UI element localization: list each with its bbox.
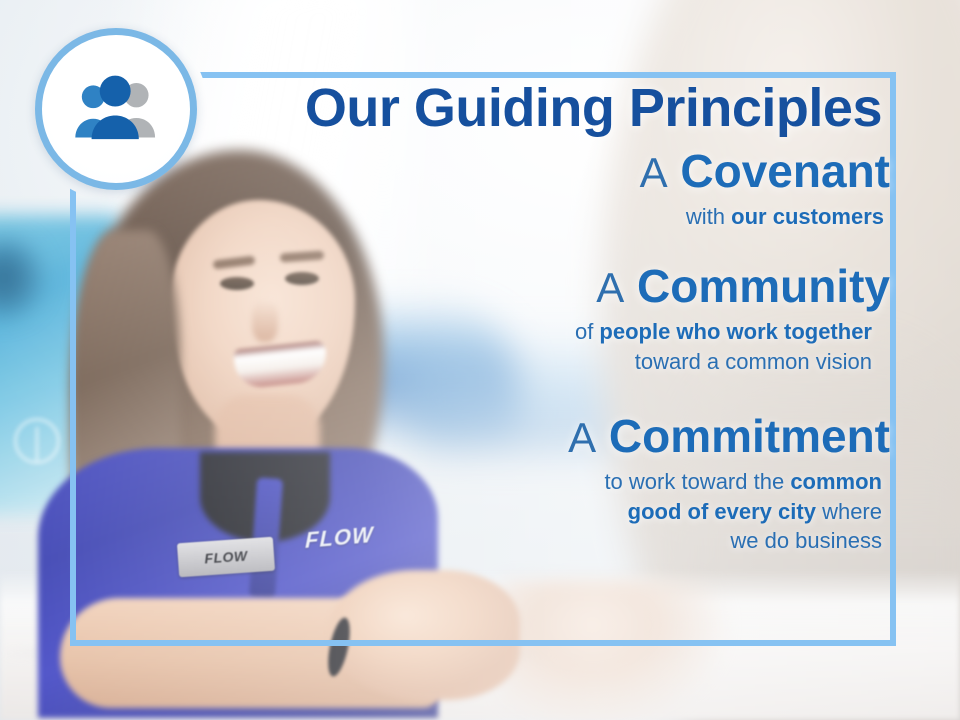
subtitle-part-bold: common (790, 469, 882, 494)
subtitle-part: with (686, 204, 731, 229)
principle-article: A (568, 414, 596, 461)
principle-subtitle: with our customers (200, 202, 890, 231)
principle-commitment: A Commitment to work toward the common g… (200, 412, 890, 555)
subtitle-part: of (575, 319, 599, 344)
customer-hands (500, 580, 730, 720)
page-title: Our Guiding Principles (200, 80, 890, 137)
principle-article: A (640, 149, 668, 196)
vehicle-brand-logo-icon (14, 418, 60, 464)
principles-copy: Our Guiding Principles A Covenant with o… (200, 80, 890, 555)
principle-heading: A Commitment (200, 412, 890, 462)
employee-hands (330, 570, 520, 700)
principle-community: A Community of people who work together … (200, 262, 890, 376)
subtitle-part-bold: good of every city (628, 499, 816, 524)
principle-article: A (596, 264, 624, 311)
principle-keyword: Covenant (680, 145, 890, 197)
principle-keyword: Community (637, 260, 890, 312)
principle-keyword: Commitment (609, 410, 890, 462)
principle-subtitle: of people who work together toward a com… (200, 317, 890, 376)
principle-heading: A Covenant (200, 147, 890, 197)
principle-heading: A Community (200, 262, 890, 312)
principle-covenant: A Covenant with our customers (200, 147, 890, 232)
subtitle-part: to work toward the (604, 469, 790, 494)
subtitle-part: toward a common vision (635, 349, 872, 374)
subtitle-part-bold: our customers (731, 204, 884, 229)
subtitle-part: where (816, 499, 882, 524)
subtitle-part: we do business (730, 528, 882, 553)
people-group-icon (67, 74, 165, 144)
guiding-principles-banner: FLOW FLOW Our G (0, 0, 960, 720)
people-badge (35, 28, 197, 190)
principle-subtitle: to work toward the common good of every … (200, 467, 890, 555)
subtitle-part-bold: people who work together (599, 319, 872, 344)
poster-highlight (0, 232, 48, 324)
